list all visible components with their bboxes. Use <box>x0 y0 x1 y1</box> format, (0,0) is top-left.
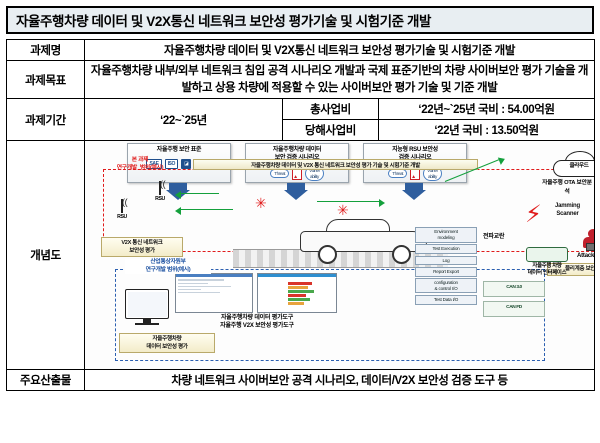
autonomous-vehicle-icon <box>300 219 425 253</box>
ota-analysis-label: 자율주행 OTA 보안분석 <box>540 177 594 195</box>
interference-label: 전파교란 <box>483 231 504 240</box>
can-label-0: CAN 3.0 <box>484 285 544 290</box>
concept-diagram: 자율주행 보안 표준 SAE ISO ◪ NIST 자율주행차량 데이터 보안 … <box>85 141 594 369</box>
interface-chip-icon <box>526 247 568 262</box>
attack-burst-icon-1: ✳ <box>255 196 266 210</box>
project-scope-banner: 자율주행차량 데이터 및 V2X 통신 네트워크 보안성 평가 기술 및 시험기… <box>193 159 478 170</box>
std-box-1-caption: 자율주행 보안 표준 <box>128 147 230 155</box>
tool-block-4: configuration & control I/O <box>415 278 477 293</box>
table-row-output: 주요산출물 차량 네트워크 사이버보안 공격 시나리오, 데이터/V2X 보안성… <box>7 370 595 391</box>
project-goal-value: 자율주행차량 내부/외부 네트워크 침입 공격 시나리오 개발과 국제 표준기반… <box>85 61 595 99</box>
year-budget-value: ‘22년 국비 : 13.50억원 <box>379 120 595 141</box>
antenna-icon-2: (( <box>160 180 165 189</box>
tool-block-list: Environment modeling Test Execution Log … <box>415 227 477 306</box>
attacker-icon <box>582 229 594 253</box>
attack-label: Attack <box>577 253 594 259</box>
rsu-tower-2: (( RSU <box>147 181 173 202</box>
project-period-value: ‘22~`25년 <box>85 99 283 141</box>
scope-label-blue: 산업통상자원부 연구개발 범위(예시) <box>125 259 211 274</box>
cloud-label: 클라우드 <box>553 161 594 169</box>
table-row-project-name: 과제명 자율주행차량 데이터 및 V2X통신 네트워크 보안성 평가기술 및 시… <box>7 40 595 61</box>
can-panel-2: CAN FD <box>483 301 545 317</box>
rsu-label-2: RSU <box>147 196 173 202</box>
project-period-label: 과제기간 <box>7 99 85 141</box>
attack-burst-icon-2: ✳ <box>337 203 348 217</box>
total-budget-label: 총사업비 <box>283 99 379 120</box>
tool-block-3: Report Export <box>415 267 477 277</box>
output-value: 차량 네트워크 사이버보안 공격 시나리오, 데이터/V2X 보안성 검증 도구… <box>85 370 595 391</box>
total-budget-value: ‘22년~`25년 국비 : 54.00억원 <box>379 99 595 120</box>
output-label: 주요산출물 <box>7 370 85 391</box>
year-budget-label: 당해사업비 <box>283 120 379 141</box>
rsu-tower-1: (( RSU <box>109 199 135 220</box>
jamming-bolt-icon: ⚡ <box>525 203 541 227</box>
tools-caption: 자율주행차량 데이터 평가도구 자율주행 V2X 보안성 평가도구 <box>177 315 337 331</box>
monitor-icon <box>125 289 169 319</box>
table-row-concept: 개념도 자율주행 보안 표준 SAE ISO ◪ NIST <box>7 141 595 370</box>
tool-block-1: Test Execution <box>415 244 477 254</box>
rsu-label-1: RSU <box>109 214 135 220</box>
comm-arrow-left <box>181 209 233 210</box>
document-title: 자율주행차량 데이터 및 V2X통신 네트워크 보안성 평가기술 및 시험기준 … <box>6 6 594 34</box>
table-row-project-goal: 과제목표 자율주행차량 내부/외부 네트워크 침입 공격 시나리오 개발과 국제… <box>7 61 595 99</box>
tool-window-left <box>175 273 253 313</box>
interface-label: 자율주행 차량 데이터 인터페이스 <box>517 263 577 277</box>
tool-window-right <box>257 273 337 313</box>
vehicle-data-interface: 자율주행 차량 데이터 인터페이스 <box>517 247 577 277</box>
tool-block-0: Environment modeling <box>415 227 477 242</box>
comm-arrow-vehicle <box>317 201 379 202</box>
jamming-scanner-label: Jamming Scanner <box>555 203 580 218</box>
project-name-label: 과제명 <box>7 40 85 61</box>
nist-mark-icon: ◪ <box>181 159 191 169</box>
comm-arrow-left-2 <box>181 193 219 194</box>
cloud-icon: 클라우드 <box>553 149 594 175</box>
antenna-icon-1: (( <box>122 198 127 207</box>
project-goal-label: 과제목표 <box>7 61 85 99</box>
can-panel-1: CAN 3.0 <box>483 281 545 297</box>
v2x-evaluation-box: V2X 통신 네트워크 보안성 평가 <box>101 237 183 257</box>
tool-block-5: Test Data I/O <box>415 295 477 305</box>
project-summary-table: 과제명 자율주행차량 데이터 및 V2X통신 네트워크 보안성 평가기술 및 시… <box>6 39 595 391</box>
scope-label-red: 본 과제 연구개발_범위(예시) <box>103 157 177 172</box>
data-security-eval-box: 자율주행차량 데이터 보안성 평가 <box>119 333 215 353</box>
tool-block-2: Log <box>415 256 477 266</box>
project-name-value: 자율주행차량 데이터 및 V2X통신 네트워크 보안성 평가기술 및 시험기준 … <box>85 40 595 61</box>
table-row-period-total: 과제기간 ‘22~`25년 총사업비 ‘22년~`25년 국비 : 54.00억… <box>7 99 595 120</box>
can-label-1: CAN FD <box>484 305 544 310</box>
concept-diagram-cell: 자율주행 보안 표준 SAE ISO ◪ NIST 자율주행차량 데이터 보안 … <box>85 141 595 370</box>
concept-label: 개념도 <box>7 141 85 370</box>
project-summary-page: 자율주행차량 데이터 및 V2X통신 네트워크 보안성 평가기술 및 시험기준 … <box>0 0 600 443</box>
